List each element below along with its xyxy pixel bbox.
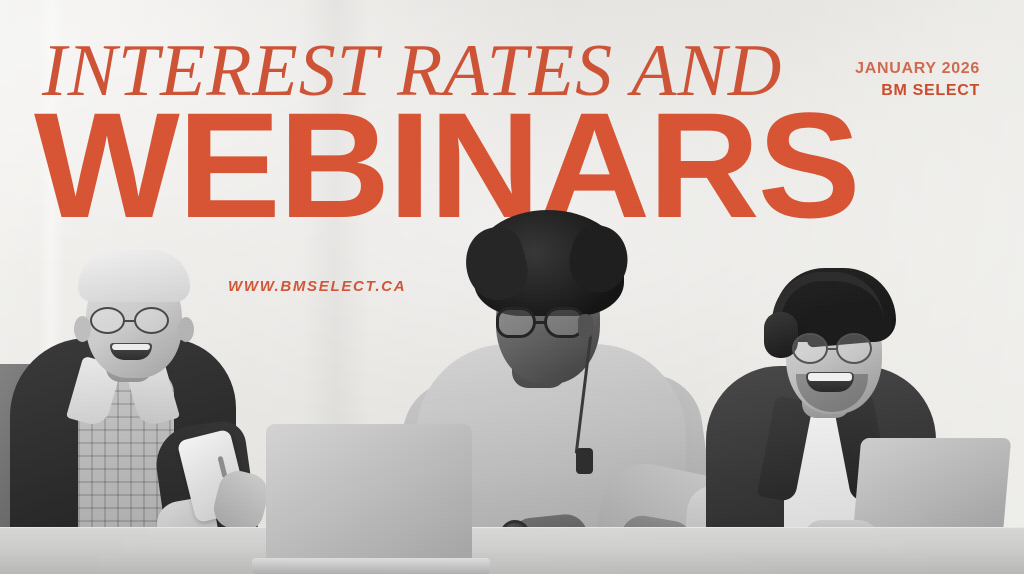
brand-name: BM SELECT bbox=[855, 80, 980, 102]
meta-block: JANUARY 2026 BM SELECT bbox=[855, 58, 980, 101]
desk-surface bbox=[0, 528, 1024, 574]
website-url[interactable]: WWW.BMSELECT.CA bbox=[228, 278, 406, 295]
center-laptop-screen bbox=[266, 424, 472, 566]
main-headline: WEBINARS bbox=[34, 104, 859, 227]
webinar-poster: INTEREST RATES AND WEBINARS WWW.BMSELECT… bbox=[0, 0, 1024, 574]
typography-layer: INTEREST RATES AND WEBINARS WWW.BMSELECT… bbox=[0, 0, 1024, 574]
center-laptop-keyboard-base bbox=[252, 558, 490, 574]
issue-date: JANUARY 2026 bbox=[855, 58, 980, 80]
